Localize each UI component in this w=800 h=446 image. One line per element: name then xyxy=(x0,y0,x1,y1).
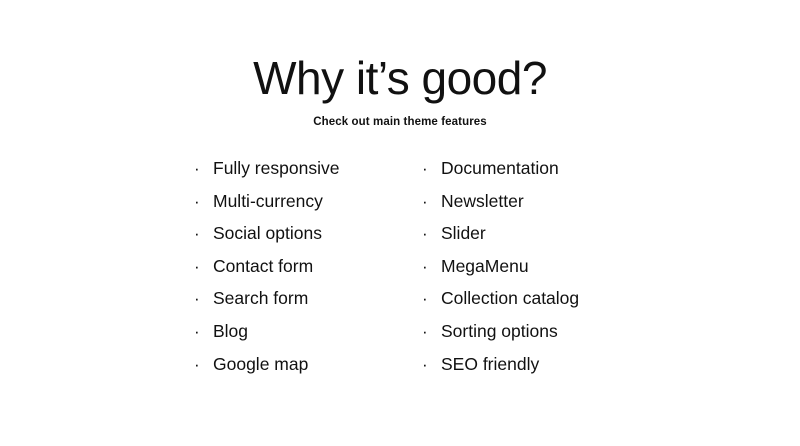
list-item: · Collection catalog xyxy=(422,287,654,320)
slide-root: Why it’s good? Check out main theme feat… xyxy=(0,0,800,446)
bullet-dot-icon: · xyxy=(194,354,213,376)
bullet-dot-icon: · xyxy=(194,321,213,343)
feature-label: Slider xyxy=(441,222,486,244)
list-item: · Search form xyxy=(194,287,422,320)
list-item: · Google map xyxy=(194,353,422,386)
feature-label: Multi-currency xyxy=(213,190,323,212)
bullet-dot-icon: · xyxy=(194,256,213,278)
list-item: · Contact form xyxy=(194,255,422,288)
feature-columns: · Fully responsive · Multi-currency · So… xyxy=(194,157,654,385)
list-item: · Newsletter xyxy=(422,190,654,223)
feature-label: Collection catalog xyxy=(441,287,579,309)
bullet-dot-icon: · xyxy=(422,321,441,343)
bullet-dot-icon: · xyxy=(194,288,213,310)
bullet-dot-icon: · xyxy=(194,158,213,180)
bullet-dot-icon: · xyxy=(194,223,213,245)
feature-label: Sorting options xyxy=(441,320,558,342)
list-item: · SEO friendly xyxy=(422,353,654,386)
bullet-dot-icon: · xyxy=(422,256,441,278)
bullet-dot-icon: · xyxy=(422,158,441,180)
page-subtitle: Check out main theme features xyxy=(0,104,800,129)
feature-label: Documentation xyxy=(441,157,559,179)
feature-label: Fully responsive xyxy=(213,157,339,179)
feature-label: Social options xyxy=(213,222,322,244)
feature-column-right: · Documentation · Newsletter · Slider · … xyxy=(422,157,654,385)
list-item: · Fully responsive xyxy=(194,157,422,190)
feature-label: MegaMenu xyxy=(441,255,529,277)
list-item: · Multi-currency xyxy=(194,190,422,223)
feature-label: Search form xyxy=(213,287,308,309)
heading-block: Why it’s good? Check out main theme feat… xyxy=(0,52,800,129)
bullet-dot-icon: · xyxy=(422,191,441,213)
bullet-dot-icon: · xyxy=(194,191,213,213)
bullet-dot-icon: · xyxy=(422,223,441,245)
feature-label: Blog xyxy=(213,320,248,342)
feature-label: SEO friendly xyxy=(441,353,539,375)
bullet-dot-icon: · xyxy=(422,354,441,376)
bullet-dot-icon: · xyxy=(422,288,441,310)
feature-column-left: · Fully responsive · Multi-currency · So… xyxy=(194,157,422,385)
list-item: · Social options xyxy=(194,222,422,255)
feature-label: Newsletter xyxy=(441,190,524,212)
list-item: · Sorting options xyxy=(422,320,654,353)
feature-label: Contact form xyxy=(213,255,313,277)
page-title: Why it’s good? xyxy=(0,52,800,104)
list-item: · MegaMenu xyxy=(422,255,654,288)
feature-label: Google map xyxy=(213,353,308,375)
list-item: · Blog xyxy=(194,320,422,353)
list-item: · Documentation xyxy=(422,157,654,190)
list-item: · Slider xyxy=(422,222,654,255)
